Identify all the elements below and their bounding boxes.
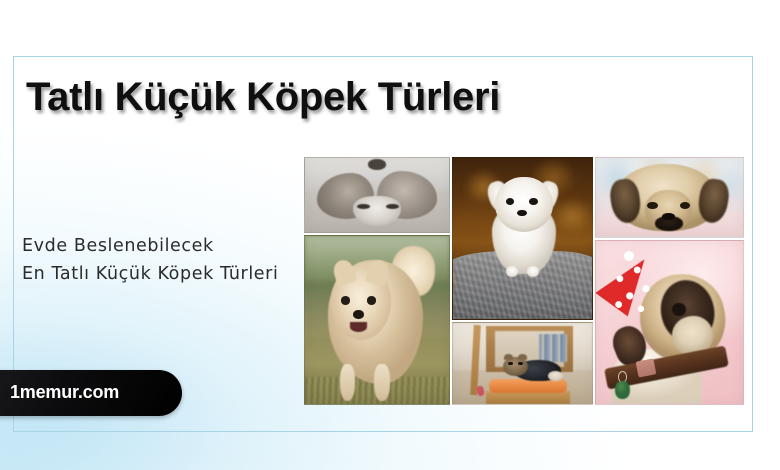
shih-tzu-eye-left bbox=[357, 204, 370, 209]
shih-tzu-topknot bbox=[368, 159, 385, 169]
maltese-eye-right bbox=[529, 198, 537, 205]
pug-collar-tag bbox=[615, 381, 630, 399]
dog-photo-collage bbox=[304, 157, 744, 405]
maltese-paw-right bbox=[527, 266, 540, 277]
subtitle-line-1: Evde Beslenebilecek bbox=[22, 232, 322, 260]
shih-tzu-eye-right bbox=[386, 204, 399, 209]
yorkie-eye-left bbox=[508, 362, 513, 366]
maltese-eye-left bbox=[506, 198, 514, 205]
subtitle-line-2: En Tatlı Küçük Köpek Türleri bbox=[22, 260, 322, 288]
yorkie-eye-right bbox=[518, 362, 523, 366]
yorkie-ear-left bbox=[504, 354, 512, 360]
collage-right-column bbox=[595, 157, 744, 405]
photo-yorkshire-terrier-on-cushion bbox=[452, 322, 593, 405]
yorkie-ribbon bbox=[476, 386, 485, 397]
pomeranian-mouth bbox=[350, 322, 367, 332]
photo-pomeranian-on-grass bbox=[304, 235, 450, 405]
maltese-head bbox=[495, 177, 553, 232]
yorkie-books bbox=[539, 334, 567, 362]
maltese-paw-left bbox=[506, 266, 519, 277]
slide-canvas: Tatlı Küçük Köpek Türleri Evde Beslenebi… bbox=[0, 0, 780, 470]
photo-shih-tzu-sleeping bbox=[304, 157, 450, 233]
maltese-nose bbox=[517, 210, 527, 217]
pomeranian-leg-front bbox=[340, 364, 356, 401]
collage-left-column bbox=[304, 157, 450, 405]
watermark-label: 1memur.com bbox=[10, 382, 119, 403]
pomeranian-nose bbox=[353, 310, 365, 319]
pomeranian-eye-right bbox=[367, 296, 376, 304]
yorkie-chair-seat bbox=[486, 391, 569, 404]
page-title: Tatlı Küçük Köpek Türleri bbox=[26, 72, 500, 122]
party-hat-tip bbox=[624, 251, 634, 261]
photo-maltese-puppy-on-stone bbox=[452, 157, 593, 320]
collage-middle-column bbox=[452, 157, 593, 405]
yorkie-chest bbox=[548, 371, 563, 382]
subtitle: Evde Beslenebilecek En Tatlı Küçük Köpek… bbox=[22, 232, 322, 288]
yorkie-ear-right bbox=[518, 354, 526, 360]
photo-pug-with-party-hat bbox=[595, 240, 744, 405]
watermark-badge: 1memur.com bbox=[0, 370, 182, 416]
pug-eye-left bbox=[672, 303, 685, 316]
pomeranian-leg-rear bbox=[374, 364, 390, 401]
photo-pekingese-lying-down bbox=[595, 157, 744, 238]
